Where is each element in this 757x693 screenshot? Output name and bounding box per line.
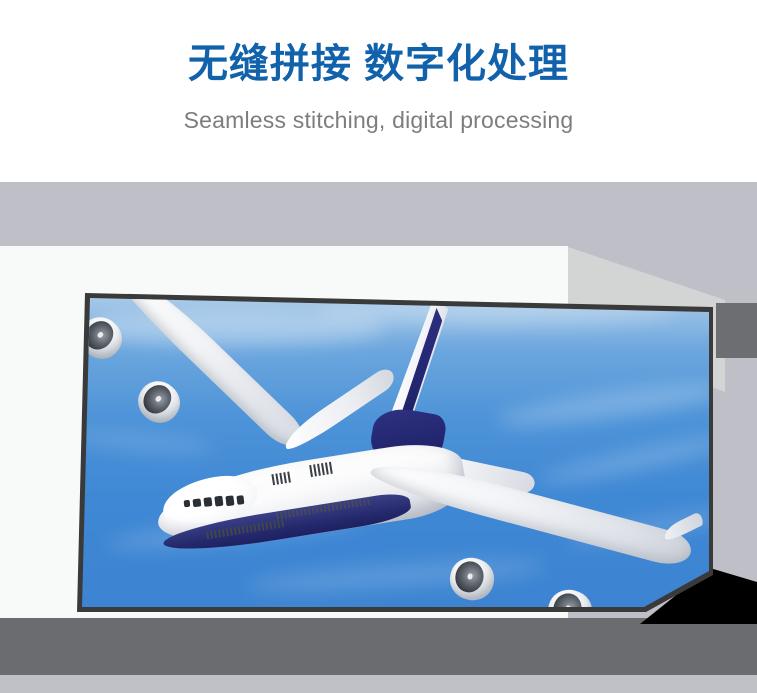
floor-front-edge (0, 675, 757, 693)
engine-fan (452, 559, 486, 596)
airplane-graphic (66, 282, 726, 627)
wall-recess-block (716, 303, 757, 358)
engine-near-inner (446, 553, 499, 604)
header-section: 无缝拼接 数字化处理 Seamless stitching, digital p… (0, 0, 757, 182)
page-root: 无缝拼接 数字化处理 Seamless stitching, digital p… (0, 0, 757, 693)
far-wing (109, 282, 310, 455)
page-title: 无缝拼接 数字化处理 (0, 38, 757, 90)
seamless-led-display (66, 282, 726, 627)
engine-far-inner (130, 373, 188, 431)
page-subtitle: Seamless stitching, digital processing (0, 104, 757, 136)
engine-fan (138, 379, 177, 418)
floor-surface (0, 618, 757, 675)
product-scene-image (0, 182, 757, 693)
